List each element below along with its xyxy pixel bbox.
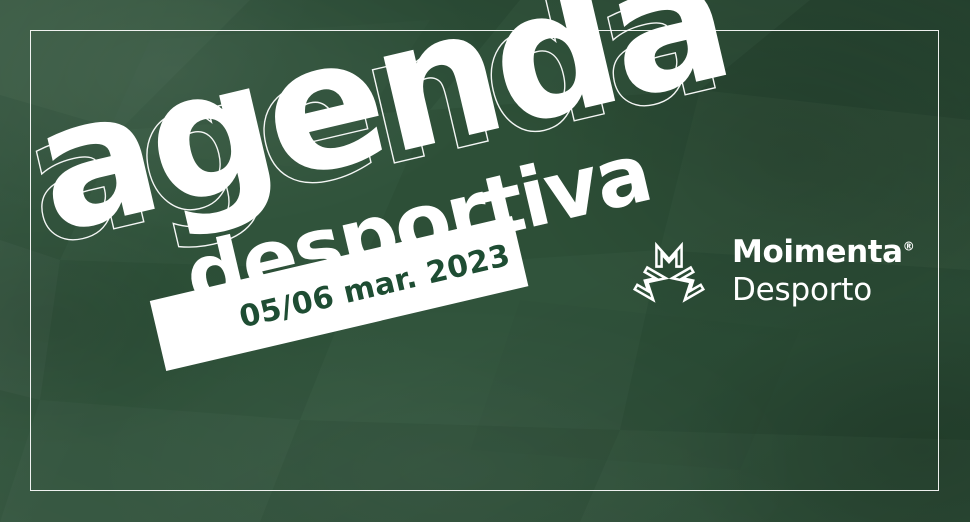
poster-canvas: agenda agenda desportiva 05/06 mar. 2023… (0, 0, 970, 522)
moimenta-desporto-logo: Moimenta® Desporto (632, 234, 914, 308)
moimenta-triple-m-triangle-mark (632, 234, 706, 308)
logo-brand-subtitle: Desporto (732, 275, 914, 306)
logo-brand-name: Moimenta® (732, 237, 914, 268)
logo-brand-name-text: Moimenta (732, 234, 903, 270)
registered-trademark-icon: ® (903, 239, 915, 253)
logo-wordmark: Moimenta® Desporto (732, 237, 914, 306)
